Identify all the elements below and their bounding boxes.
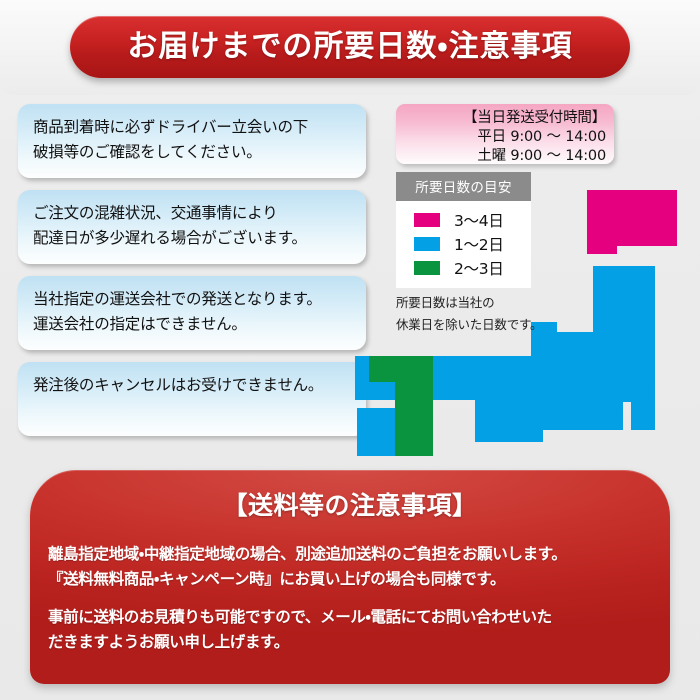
legend-body: 3～4日 1～2日 2～3日 — [396, 201, 531, 288]
legend: 所要日数の目安 3～4日 1～2日 2～3日 — [396, 172, 531, 288]
header-banner: お届けまでの所要日数・注意事項 — [0, 0, 700, 95]
same-day-heading: 【当日発送受付時間】 — [396, 109, 606, 128]
shipping-notice-line: 事前に送料のお見積りも可能ですので、メール・電話にてお問い合わせいた — [48, 605, 656, 630]
shipping-notice-line: 離島指定地域・中継指定地域の場合、別途追加送料のご負担をお願いします。 — [48, 542, 656, 567]
legend-label: 2～3日 — [454, 257, 504, 279]
notice-line: 破損等のご確認をしてください。 — [33, 140, 356, 165]
page-title: お届けまでの所要日数・注意事項 — [127, 32, 572, 62]
notice-line: 配達日が多少遅れる場合がございます。 — [33, 226, 356, 251]
notice-line: ご注文の混雑状況、交通事情により — [33, 201, 356, 226]
legend-label: 3～4日 — [454, 209, 504, 231]
same-day-saturday-hours: 土曜 9:00 ～ 14:00 — [396, 147, 606, 166]
shipping-info-graphic: お届けまでの所要日数・注意事項 商品到着時に必ずドライバー立会いの下 破損等のご… — [0, 0, 700, 700]
shipping-notice-title: 【送料等の注意事項】 — [30, 486, 670, 522]
shipping-notice-body: 離島指定地域・中継指定地域の場合、別途追加送料のご負担をお願いします。 『送料無… — [30, 542, 670, 655]
legend-swatch-green — [414, 261, 440, 275]
header-pill: お届けまでの所要日数・注意事項 — [70, 16, 630, 78]
legend-row: 3～4日 — [396, 208, 531, 232]
same-day-weekday-hours: 平日 9:00 ～ 14:00 — [396, 128, 606, 147]
legend-footnote-line: 所要日数は当社の — [396, 292, 586, 314]
spacer — [48, 592, 656, 605]
notice-line — [33, 398, 356, 423]
shipping-notice-line: だきますようお願い申し上げます。 — [48, 630, 656, 655]
notice-line: 当社指定の運送会社での発送となります。 — [33, 287, 356, 312]
shipping-notice-line: 『送料無料商品・キャンペーン時』にお買い上げの場合も同様です。 — [48, 567, 656, 592]
legend-label: 1～2日 — [454, 233, 504, 255]
legend-row: 1～2日 — [396, 232, 531, 256]
notice-line: 発注後のキャンセルはお受けできません。 — [33, 373, 356, 398]
same-day-shipping-hours-box: 【当日発送受付時間】 平日 9:00 ～ 14:00 土曜 9:00 ～ 14:… — [396, 104, 614, 164]
map-region-kyushu — [369, 356, 433, 456]
notice-box-delivery-check: 商品到着時に必ずドライバー立会いの下 破損等のご確認をしてください。 — [18, 104, 366, 178]
notice-box-carrier: 当社指定の運送会社での発送となります。 運送会社の指定はできません。 — [18, 276, 366, 350]
legend-row: 2～3日 — [396, 256, 531, 280]
notice-line: 商品到着時に必ずドライバー立会いの下 — [33, 115, 356, 140]
notice-box-list: 商品到着時に必ずドライバー立会いの下 破損等のご確認をしてください。 ご注文の混… — [18, 104, 366, 448]
legend-heading: 所要日数の目安 — [396, 172, 531, 201]
legend-footnote-line: 休業日を除いた日数です。 — [396, 314, 586, 336]
shipping-notice-panel: 【送料等の注意事項】 離島指定地域・中継指定地域の場合、別途追加送料のご負担をお… — [30, 470, 670, 684]
notice-box-cancellation: 発注後のキャンセルはお受けできません。 — [18, 362, 366, 436]
legend-swatch-blue — [414, 237, 440, 251]
notice-line: 運送会社の指定はできません。 — [33, 312, 356, 337]
notice-box-delay: ご注文の混雑状況、交通事情により 配達日が多少遅れる場合がございます。 — [18, 190, 366, 264]
legend-footnote: 所要日数は当社の 休業日を除いた日数です。 — [396, 292, 586, 336]
legend-swatch-magenta — [414, 213, 440, 227]
